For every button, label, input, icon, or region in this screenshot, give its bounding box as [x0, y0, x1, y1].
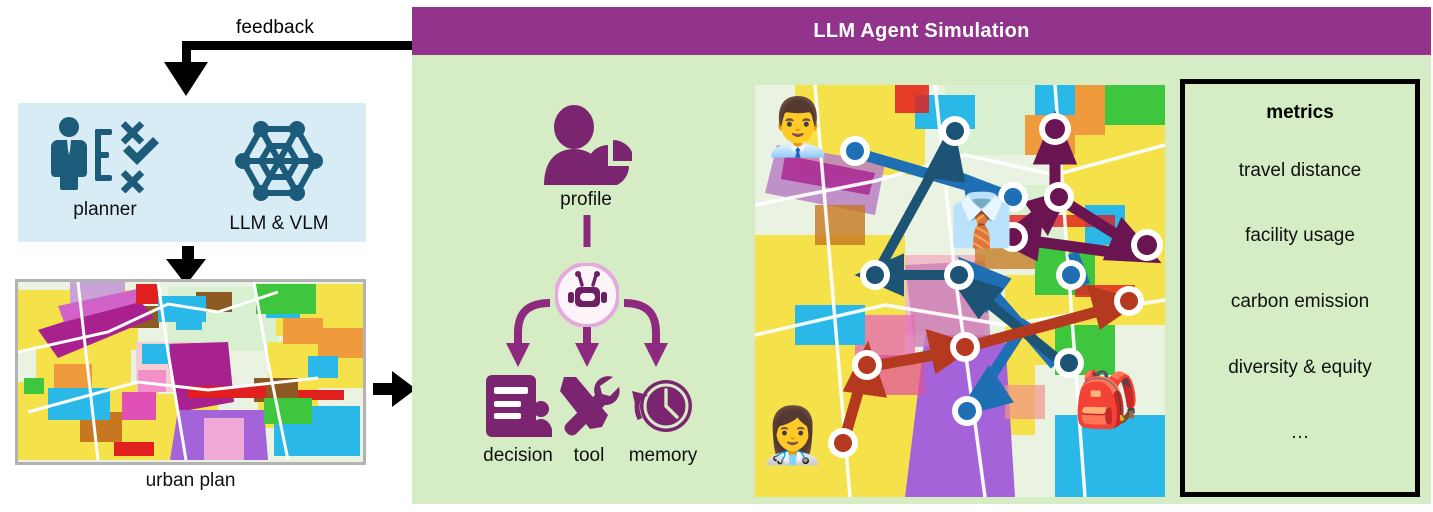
simulation-map: 👨‍💼 👔 🎒 👩‍⚕️ — [755, 85, 1165, 497]
robot-icon — [555, 263, 619, 327]
metrics-title: metrics — [1266, 102, 1334, 124]
llm-vlm-cell: LLM & VLM — [192, 103, 366, 242]
network-graph-icon — [229, 115, 329, 207]
simulation-header-bar: LLM Agent Simulation — [412, 7, 1431, 55]
llm-vlm-label: LLM & VLM — [229, 213, 328, 235]
planner-cell: planner — [18, 103, 192, 242]
planner-llm-box: planner — [18, 103, 366, 242]
decision-document-icon — [484, 375, 552, 437]
metrics-item: travel distance — [1239, 160, 1362, 182]
diagram-root: feedback — [0, 0, 1433, 512]
metrics-box: metrics travel distance facility usage c… — [1180, 79, 1420, 497]
clock-history-icon — [626, 373, 696, 439]
metrics-item-ellipsis: … — [1291, 422, 1310, 444]
metrics-list: travel distance facility usage carbon em… — [1185, 124, 1415, 492]
metrics-item: diversity & equity — [1228, 357, 1372, 379]
businessman-agent: 👔 — [949, 195, 1014, 247]
metrics-item: carbon emission — [1231, 291, 1369, 313]
planner-checklist-icon — [49, 115, 161, 193]
simulation-panel: LLM Agent Simulation profile — [412, 7, 1431, 504]
feedback-arrow-head — [164, 62, 208, 96]
feedback-arrow-label: feedback — [236, 17, 314, 39]
profile-label: profile — [540, 189, 632, 211]
planner-label: planner — [73, 199, 136, 221]
urban-plan-map-image — [15, 279, 366, 465]
memory-label: memory — [608, 445, 718, 467]
urban-plan-label: urban plan — [15, 470, 366, 492]
tools-hammer-wrench-icon — [558, 375, 620, 437]
office-worker-agent: 👨‍💼 — [763, 99, 833, 155]
agent-architecture: profile — [422, 97, 752, 497]
metrics-item: facility usage — [1245, 225, 1355, 247]
health-worker-agent: 👩‍⚕️ — [759, 409, 826, 463]
profile-person-pie-icon — [540, 105, 632, 185]
student-agent: 🎒 — [1073, 373, 1140, 427]
simulation-title: LLM Agent Simulation — [813, 20, 1029, 43]
feedback-arrow-horizontal-segment — [182, 41, 412, 50]
